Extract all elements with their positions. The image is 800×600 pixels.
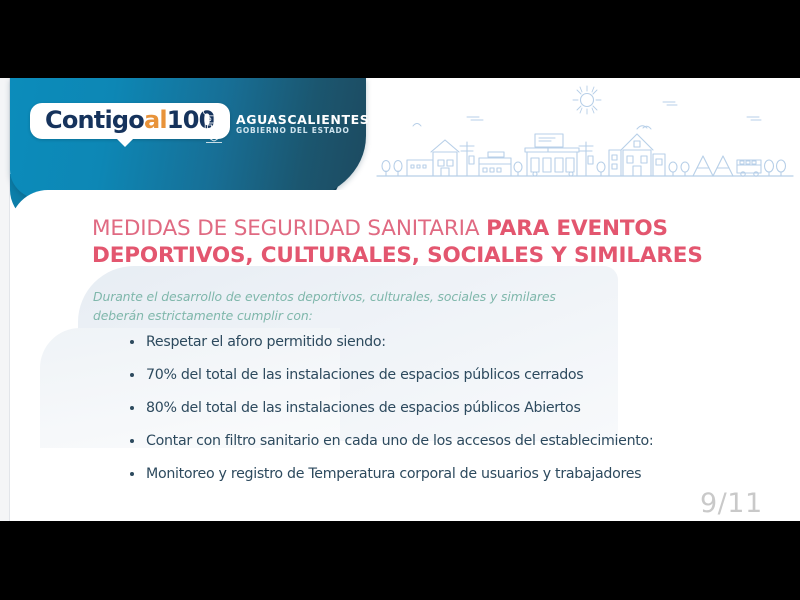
- list-item: Respetar el aforo permitido siendo:: [128, 334, 768, 351]
- list-item: 80% del total de las instalaciones de es…: [128, 400, 768, 417]
- presentation-slide: Contigoal100: [0, 78, 800, 521]
- letterbox-bar-top: [0, 0, 800, 78]
- list-item: Contar con filtro sanitario en cada uno …: [128, 433, 768, 450]
- slide-title-line-2: DEPORTIVOS, CULTURALES, SOCIALES Y SIMIL…: [92, 244, 712, 269]
- list-item: Monitoreo y registro de Temperatura corp…: [128, 466, 768, 483]
- measures-bullet-list: Respetar el aforo permitido siendo: 70% …: [128, 334, 768, 499]
- slide-title-regular: MEDIDAS DE SEGURIDAD SANITARIA: [92, 216, 486, 241]
- letterbox-bar-bottom: [0, 521, 800, 600]
- slide-subtitle-line-1: Durante el desarrollo de eventos deporti…: [93, 287, 653, 306]
- slide-title-line-1: MEDIDAS DE SEGURIDAD SANITARIA PARA EVEN…: [92, 217, 712, 242]
- slide-title: MEDIDAS DE SEGURIDAD SANITARIA PARA EVEN…: [92, 217, 712, 269]
- list-item: 70% del total de las instalaciones de es…: [128, 367, 768, 384]
- slide-subtitle-line-2: deberán estrictamente cumplir con:: [93, 306, 653, 325]
- slide-title-emphasis: PARA EVENTOS: [486, 216, 668, 241]
- page-counter: 9/11: [700, 488, 763, 519]
- slide-text-content: MEDIDAS DE SEGURIDAD SANITARIA PARA EVEN…: [0, 78, 800, 521]
- video-viewport: Contigoal100: [0, 0, 800, 600]
- slide-subtitle: Durante el desarrollo de eventos deporti…: [93, 287, 653, 325]
